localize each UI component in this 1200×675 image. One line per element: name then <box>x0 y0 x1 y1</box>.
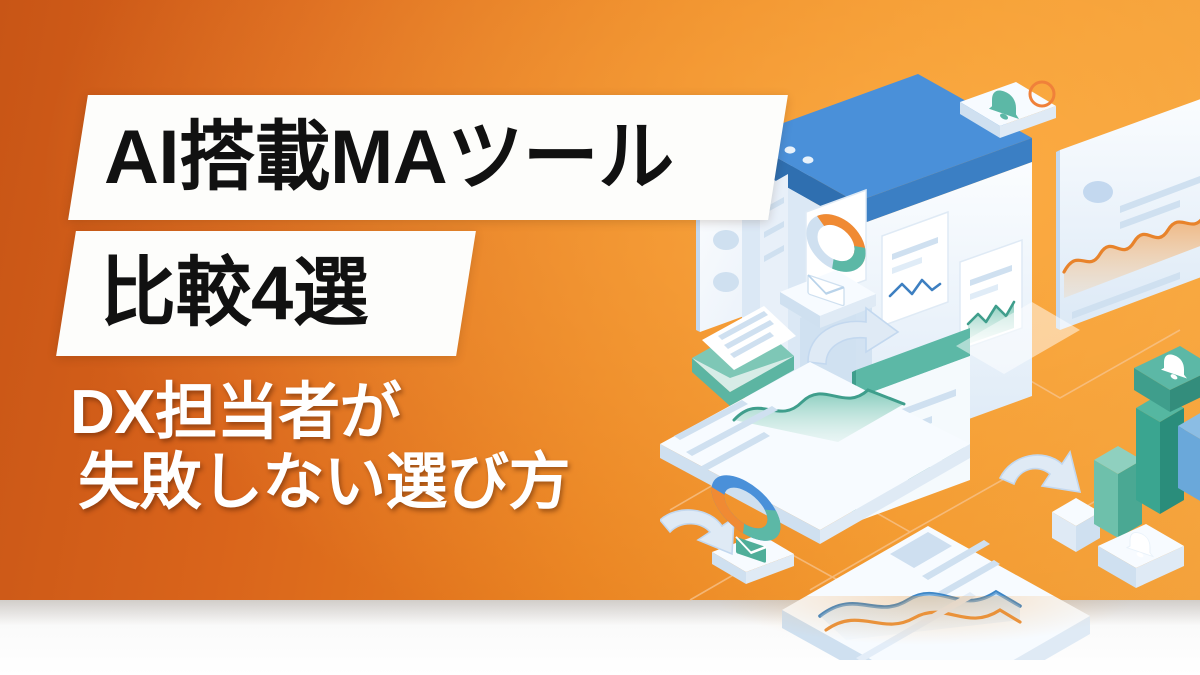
subtitle-line-1: DX担当者が <box>70 378 401 447</box>
headline-banner-1-text: AI搭載MAツール <box>78 95 778 220</box>
headline-banner-1: AI搭載MAツール <box>68 95 788 220</box>
automation-loop-arrow-right <box>1000 452 1080 492</box>
strip-glow <box>700 596 1200 666</box>
subtitle-block: DX担当者が 失敗しない選び方 <box>70 378 670 518</box>
background-panel-right <box>1056 40 1200 330</box>
poster-canvas: AI搭載MAツール 比較4選 DX担当者が 失敗しない選び方 <box>0 0 1200 675</box>
subtitle-line-2: 失敗しない選び方 <box>70 448 670 518</box>
notification-bell-teal <box>1134 346 1200 412</box>
headline-banner-2: 比較4選 <box>56 231 476 356</box>
automation-loop-arrow-left <box>660 510 734 554</box>
headline-banner-2-text: 比較4選 <box>66 231 466 356</box>
